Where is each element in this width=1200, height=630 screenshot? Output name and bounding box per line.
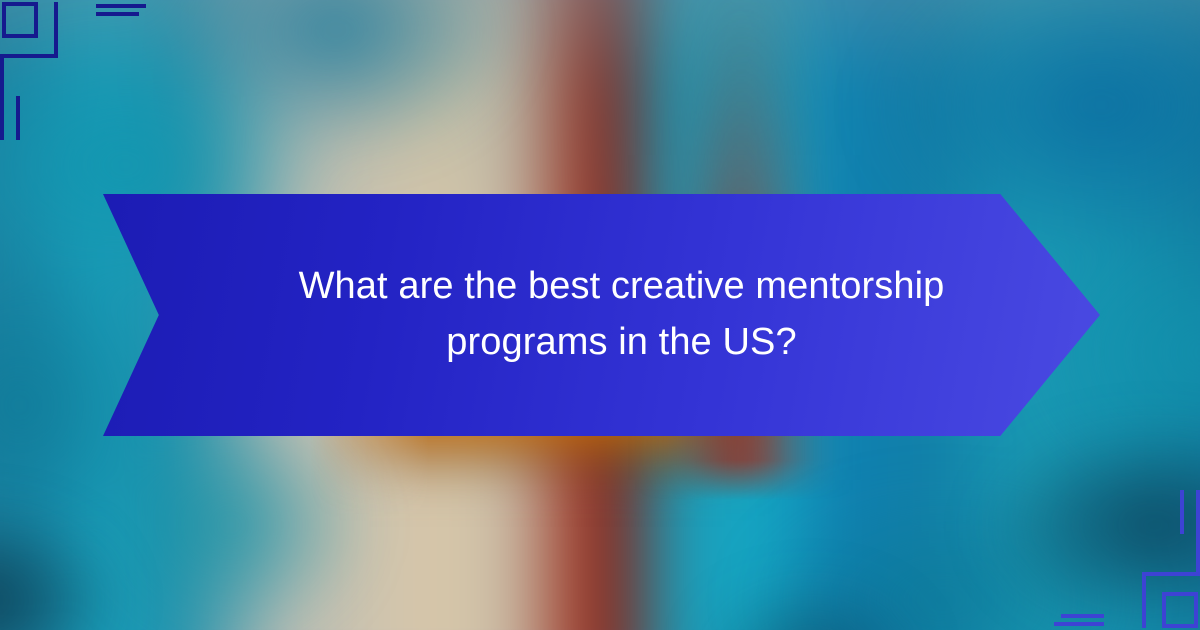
banner-canvas: What are the best creative mentorship pr…	[0, 0, 1200, 630]
question-banner: What are the best creative mentorship pr…	[103, 194, 1100, 436]
question-text: What are the best creative mentorship pr…	[259, 259, 945, 371]
